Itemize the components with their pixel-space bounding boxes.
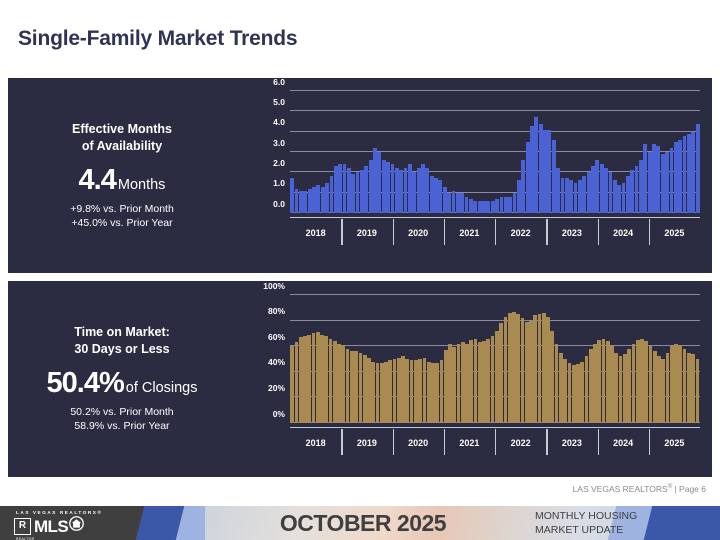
bar [386, 162, 390, 213]
bar [320, 335, 324, 423]
bar [661, 154, 665, 213]
bar [512, 312, 516, 423]
plot-time-on-market: 0%20%40%60%80%100% [290, 295, 700, 423]
bar [517, 180, 521, 213]
bar [435, 363, 439, 423]
bar [469, 199, 473, 213]
bar [364, 166, 368, 213]
bar [665, 152, 669, 213]
kpi-unit-availability: Months [118, 177, 166, 193]
x-axis-year-label: 2021 [444, 218, 495, 248]
bar [610, 346, 614, 423]
panel-time-on-market: Time on Market: 30 Days or Less 50.4%of … [8, 281, 712, 477]
bar [582, 176, 586, 213]
logo-row: R MLS [14, 516, 142, 536]
bar [578, 180, 582, 213]
bar [486, 339, 490, 423]
kpi-title-line1: Time on Market: [74, 324, 170, 341]
bar [696, 359, 700, 423]
x-axis-year-label: 2024 [598, 218, 649, 248]
bar [587, 172, 591, 213]
bar [613, 180, 617, 213]
bar [595, 160, 599, 213]
kpi-value-time-on-market: 50.4% [47, 367, 124, 399]
bar [334, 166, 338, 213]
bar [447, 193, 451, 213]
y-axis-tick-label: 20% [268, 383, 285, 393]
bar [423, 358, 427, 423]
y-axis-tick-label: 2.0 [273, 158, 285, 168]
bar [622, 183, 626, 214]
bar [649, 346, 653, 423]
x-axis-year-label: 2023 [546, 428, 597, 458]
bar [354, 351, 358, 423]
bar [525, 322, 529, 423]
bar [397, 358, 401, 423]
bar [513, 193, 517, 213]
chart-availability: 0.01.02.03.04.05.06.0 201820192020202120… [236, 78, 712, 273]
kpi-sub-availability: +9.8% vs. Prior Month +45.0% vs. Prior Y… [70, 202, 174, 230]
bar [691, 354, 695, 423]
bar [444, 350, 448, 423]
kpi-sub-prior-month: 50.2% vs. Prior Month [70, 405, 173, 419]
bar [552, 140, 556, 213]
bar [333, 341, 337, 423]
bar [648, 152, 652, 213]
bar [657, 356, 661, 423]
bar [534, 117, 538, 213]
bar [623, 354, 627, 423]
bar [574, 183, 578, 214]
bar [568, 363, 572, 423]
bar [696, 124, 700, 213]
x-axis-time-on-market: 20182019202020212022202320242025 [290, 427, 700, 458]
bar [299, 191, 303, 213]
bar [683, 136, 687, 213]
bar [482, 341, 486, 423]
bar [609, 172, 613, 213]
bar [576, 364, 580, 423]
bar [529, 321, 533, 423]
kpi-main-time-on-market: 50.4%of Closings [47, 367, 198, 400]
bar [443, 187, 447, 213]
bar [589, 349, 593, 423]
kpi-unit-time-on-market: of Closings [126, 380, 198, 396]
y-axis-tick-label: 0.0 [273, 199, 285, 209]
bar [691, 132, 695, 213]
bar [627, 349, 631, 423]
footer-note-page: | Page 6 [672, 484, 706, 494]
kpi-sub-prior-month: +9.8% vs. Prior Month [70, 202, 174, 216]
bar [546, 317, 550, 423]
bar [556, 168, 560, 213]
bar [555, 344, 559, 423]
bar [521, 318, 525, 423]
bar [324, 336, 328, 423]
bar [388, 360, 392, 423]
bar [452, 191, 456, 213]
bar [539, 124, 543, 213]
bar [600, 164, 604, 213]
bar [395, 168, 399, 213]
bar [417, 168, 421, 213]
bar [644, 341, 648, 423]
bar [572, 365, 576, 423]
bar [561, 178, 565, 213]
bar [303, 336, 307, 423]
bar [341, 345, 345, 423]
bar [325, 183, 329, 214]
bar [674, 142, 678, 213]
y-axis-tick-label: 1.0 [273, 178, 285, 188]
bar [678, 140, 682, 213]
bar [418, 359, 422, 423]
bar [516, 314, 520, 423]
bar [614, 353, 618, 423]
bar [316, 332, 320, 423]
kpi-title-time-on-market: Time on Market: 30 Days or Less [74, 324, 170, 358]
bar [565, 178, 569, 213]
bar [363, 355, 367, 423]
bar [678, 345, 682, 423]
bar [504, 317, 508, 423]
bar [687, 134, 691, 213]
bar [636, 340, 640, 423]
bar [670, 148, 674, 213]
bar [384, 362, 388, 423]
realtor-r-icon: R [14, 518, 31, 535]
bar [356, 172, 360, 213]
x-axis-year-label: 2023 [546, 218, 597, 248]
lvr-mls-logo: LAS VEGAS REALTORS® R MLS REALTOR [14, 510, 142, 537]
bar [408, 164, 412, 213]
bar [632, 344, 636, 423]
bar [399, 170, 403, 213]
y-axis-tick-label: 3.0 [273, 138, 285, 148]
y-axis-tick-label: 4.0 [273, 117, 285, 127]
bar [619, 356, 623, 423]
footer-update-line1: MONTHLY HOUSING [535, 510, 675, 524]
bar [626, 176, 630, 213]
footer-page-note: LAS VEGAS REALTORS® | Page 6 [573, 484, 706, 494]
bar [421, 164, 425, 213]
bar [448, 344, 452, 423]
kpi-title-line2: 30 Days or Less [74, 341, 170, 358]
bar [617, 185, 621, 213]
bar [299, 337, 303, 423]
bar [559, 353, 563, 423]
bar [569, 180, 573, 213]
y-axis-tick-label: 80% [268, 306, 285, 316]
y-axis-tick-label: 0% [273, 409, 285, 419]
bar [456, 193, 460, 213]
bar [380, 363, 384, 423]
y-axis-tick-label: 60% [268, 332, 285, 342]
bar [290, 346, 294, 423]
bar [295, 342, 299, 423]
footer-update-line2: MARKET UPDATE [535, 524, 675, 538]
x-axis-availability: 20182019202020212022202320242025 [290, 217, 700, 248]
bar [670, 346, 674, 423]
bar [465, 197, 469, 213]
x-axis-year-label: 2018 [290, 428, 341, 458]
bar [371, 362, 375, 423]
bar [474, 339, 478, 423]
kpi-block-time-on-market: Time on Market: 30 Days or Less 50.4%of … [8, 281, 236, 477]
footer-month-title: OCTOBER 2025 [238, 506, 488, 540]
bar [580, 362, 584, 423]
kpi-block-availability: Effective Months of Availability 4.4Mont… [8, 78, 236, 273]
bar [414, 360, 418, 423]
bar [530, 126, 534, 213]
kpi-main-availability: 4.4Months [79, 164, 166, 197]
bar [602, 339, 606, 423]
x-axis-year-label: 2019 [341, 428, 392, 458]
bar [478, 201, 482, 213]
panel-effective-months-availability: Effective Months of Availability 4.4Mont… [8, 78, 712, 273]
bar [593, 344, 597, 423]
x-axis-year-label: 2020 [393, 428, 444, 458]
x-axis-year-label: 2025 [649, 218, 700, 248]
bar [653, 351, 657, 423]
bar [635, 166, 639, 213]
y-axis-tick-label: 5.0 [273, 97, 285, 107]
bar [425, 168, 429, 213]
bar [405, 359, 409, 423]
bar [337, 344, 341, 423]
bar [504, 197, 508, 213]
bar [469, 340, 473, 423]
bar [461, 342, 465, 423]
bar [376, 363, 380, 423]
bar [393, 359, 397, 423]
bar [367, 358, 371, 423]
bar [290, 178, 294, 213]
bar [312, 333, 316, 423]
chart-time-on-market: 0%20%40%60%80%100% 201820192020202120222… [236, 281, 712, 477]
kpi-sub-time-on-market: 50.2% vs. Prior Month 58.9% vs. Prior Ye… [70, 405, 173, 433]
bar [661, 359, 665, 423]
bar [401, 356, 405, 423]
bar [547, 130, 551, 213]
bar [360, 170, 364, 213]
bar [369, 160, 373, 213]
kpi-title-line2: of Availability [72, 138, 172, 155]
bar [338, 164, 342, 213]
bar [538, 314, 542, 423]
bar [643, 144, 647, 213]
bar [391, 164, 395, 213]
logo-mls-text: MLS [34, 518, 68, 535]
bar [346, 349, 350, 423]
bar [526, 142, 530, 213]
footer-bar: LAS VEGAS REALTORS® R MLS REALTOR OCTOBE… [0, 506, 720, 540]
bar [457, 344, 461, 423]
bar [656, 146, 660, 213]
bar [303, 191, 307, 213]
kpi-sub-prior-year: +45.0% vs. Prior Year [70, 216, 174, 230]
logo-top-text: LAS VEGAS REALTORS® [16, 510, 142, 515]
bar [359, 353, 363, 423]
y-axis-tick-label: 6.0 [273, 77, 285, 87]
x-axis-year-label: 2021 [444, 428, 495, 458]
kpi-title-line1: Effective Months [72, 121, 172, 138]
bar [652, 144, 656, 213]
bar [687, 353, 691, 423]
bar [434, 178, 438, 213]
bar [491, 201, 495, 213]
bar [639, 160, 643, 213]
bar [351, 174, 355, 213]
x-axis-year-label: 2024 [598, 428, 649, 458]
x-axis-year-label: 2022 [495, 218, 546, 248]
bar [377, 152, 381, 213]
bar [499, 323, 503, 423]
bar-series [290, 295, 700, 423]
x-axis-year-label: 2019 [341, 218, 392, 248]
x-axis-year-label: 2018 [290, 218, 341, 248]
bar [430, 176, 434, 213]
bar [495, 199, 499, 213]
bar [521, 160, 525, 213]
bar [606, 341, 610, 423]
bar [604, 168, 608, 213]
bar [533, 315, 537, 423]
bar [491, 336, 495, 423]
bar [500, 197, 504, 213]
kpi-title-availability: Effective Months of Availability [72, 121, 172, 155]
bar [373, 148, 377, 213]
y-axis-tick-label: 40% [268, 357, 285, 367]
bar [495, 331, 499, 423]
y-axis-tick-label: 100% [263, 281, 285, 291]
bar [312, 187, 316, 213]
bar [563, 359, 567, 423]
bar [597, 340, 601, 423]
kpi-sub-prior-year: 58.9% vs. Prior Year [70, 419, 173, 433]
bar [452, 347, 456, 423]
bar [482, 201, 486, 213]
bar [382, 160, 386, 213]
bar [591, 166, 595, 213]
bar [308, 189, 312, 213]
bar [438, 180, 442, 213]
bar [329, 339, 333, 423]
bar-series [290, 91, 700, 213]
bar [473, 201, 477, 213]
footer-note-text: LAS VEGAS REALTORS [573, 484, 668, 494]
bar [508, 197, 512, 213]
bar [460, 193, 464, 213]
bar [307, 335, 311, 423]
bar [674, 344, 678, 423]
bar [404, 168, 408, 213]
bar [343, 164, 347, 213]
bar [666, 353, 670, 423]
bar [295, 189, 299, 213]
bar [486, 201, 490, 213]
bar [542, 313, 546, 423]
bar [440, 360, 444, 423]
bar [347, 168, 351, 213]
x-axis-year-label: 2020 [393, 218, 444, 248]
bar [465, 344, 469, 423]
bar [683, 349, 687, 423]
x-axis-year-label: 2022 [495, 428, 546, 458]
bar [640, 339, 644, 423]
bar [508, 313, 512, 423]
bar [543, 130, 547, 213]
plot-availability: 0.01.02.03.04.05.06.0 [290, 91, 700, 213]
footer-update-title: MONTHLY HOUSING MARKET UPDATE [535, 510, 675, 537]
bar [630, 170, 634, 213]
x-axis-year-label: 2025 [649, 428, 700, 458]
bar [321, 187, 325, 213]
bar [431, 363, 435, 423]
bar [330, 176, 334, 213]
bar [550, 331, 554, 423]
house-icon [69, 516, 84, 536]
page-title: Single-Family Market Trends [18, 27, 297, 51]
bar [412, 172, 416, 213]
bar [585, 356, 589, 423]
bar [316, 185, 320, 213]
kpi-value-availability: 4.4 [79, 164, 116, 196]
bar [410, 360, 414, 423]
bar [350, 351, 354, 423]
bar [478, 342, 482, 423]
bar [427, 362, 431, 423]
